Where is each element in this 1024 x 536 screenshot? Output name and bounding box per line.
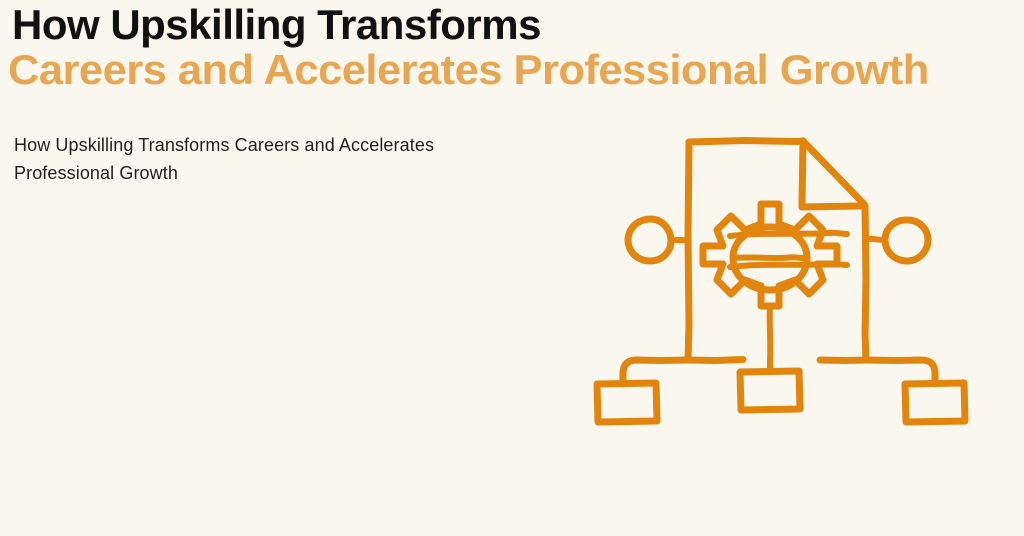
bottom-right-box [905, 383, 965, 422]
page-root: How Upskilling Transforms Careers and Ac… [0, 0, 1024, 536]
gear-icon [703, 204, 837, 306]
center-connector-and-box [740, 306, 800, 410]
subtitle-text: How Upskilling Transforms Careers and Ac… [14, 132, 454, 188]
page-title: How Upskilling Transforms Careers and Ac… [8, 4, 1018, 92]
hand-drawn-document-workflow-illustration [575, 110, 985, 520]
headline-line-one: How Upskilling Transforms [12, 4, 1018, 47]
right-node-circle [866, 220, 928, 261]
headline-line-two: Careers and Accelerates Professional Gro… [8, 49, 1024, 92]
left-node-circle [628, 219, 688, 261]
bottom-left-box [597, 383, 657, 422]
